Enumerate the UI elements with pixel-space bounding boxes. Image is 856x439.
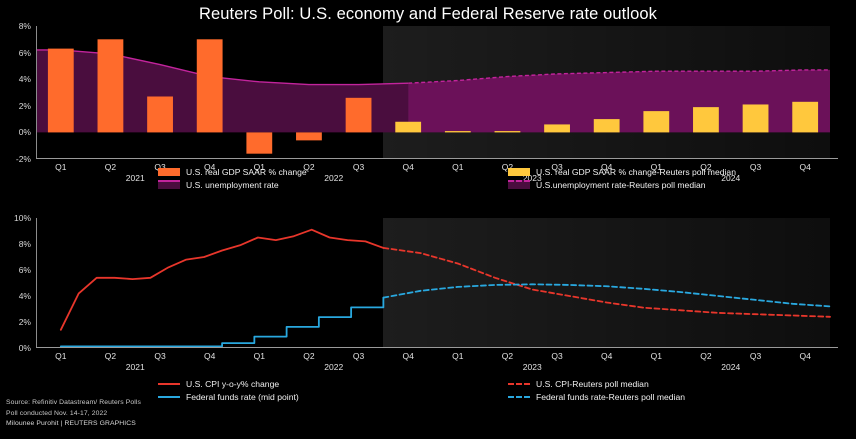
y-axis-tick-label: 0% — [19, 343, 31, 353]
legend-label: U.S. CPI y-o-y% change — [186, 379, 279, 389]
x-axis-year-label: 2021 — [126, 173, 145, 183]
top-legend-left: U.S. real GDP SAAR % changeU.S. unemploy… — [158, 166, 307, 192]
footer-credit: Milounee Purohit | REUTERS GRAPHICS — [6, 419, 141, 430]
legend-label: Federal funds rate (mid point) — [186, 392, 299, 402]
gdp-bar — [792, 102, 818, 133]
legend-entry: U.S. CPI-Reuters poll median — [508, 378, 685, 389]
y-axis-tick-label: 2% — [19, 101, 31, 111]
cpi-line — [61, 230, 384, 330]
cpi-forecast-line — [383, 248, 830, 317]
chart-page: Reuters Poll: U.S. economy and Federal R… — [0, 0, 856, 439]
legend-entry: U.S. real GDP SAAR % change — [158, 166, 307, 177]
legend-entry: U.S. CPI y-o-y% change — [158, 378, 299, 389]
gdp-bar — [395, 122, 421, 133]
gdp-bar — [296, 132, 322, 140]
x-axis-quarter-label: Q1 — [55, 162, 66, 172]
x-axis-year-label: 2023 — [523, 362, 542, 372]
x-axis-quarter-label: Q3 — [154, 351, 165, 361]
bottom-legend-right: U.S. CPI-Reuters poll medianFederal fund… — [508, 378, 685, 404]
x-axis-quarter-label: Q3 — [750, 351, 761, 361]
x-axis-quarter-label: Q2 — [303, 351, 314, 361]
gdp-bar — [495, 131, 521, 132]
legend-swatch — [158, 396, 180, 398]
x-axis-line — [36, 347, 838, 348]
y-axis-line — [36, 218, 37, 348]
gdp-bar — [197, 39, 223, 132]
legend-entry: Federal funds rate-Reuters poll median — [508, 391, 685, 402]
legend-swatch — [508, 180, 530, 189]
top-plot-svg — [36, 26, 830, 159]
legend-entry: U.S.unemployment rate-Reuters poll media… — [508, 179, 736, 190]
gdp-bar — [643, 111, 669, 132]
y-axis-tick-label: 4% — [19, 291, 31, 301]
legend-entry: Federal funds rate (mid point) — [158, 391, 299, 402]
legend-label: U.S. unemployment rate — [186, 180, 279, 190]
top-chart-panel: -2%0%2%4%6%8%Q1Q2Q3Q4Q1Q2Q3Q4Q1Q2Q3Q4Q1Q… — [0, 26, 856, 198]
x-axis-quarter-label: Q4 — [403, 162, 414, 172]
legend-swatch — [158, 168, 180, 176]
y-axis-tick-label: 6% — [19, 265, 31, 275]
gdp-bar — [147, 96, 173, 132]
x-axis-quarter-label: Q1 — [452, 351, 463, 361]
x-axis-quarter-label: Q2 — [105, 162, 116, 172]
legend-swatch — [158, 383, 180, 385]
footer-source: Source: Refinitiv Datastream/ Reuters Po… — [6, 398, 141, 409]
gdp-bar — [743, 104, 769, 132]
x-axis-year-label: 2022 — [324, 173, 343, 183]
legend-label: U.S. real GDP SAAR % change — [186, 167, 307, 177]
x-axis-year-label: 2024 — [721, 362, 740, 372]
bottom-legend-left: U.S. CPI y-o-y% changeFederal funds rate… — [158, 378, 299, 404]
legend-label: U.S.unemployment rate-Reuters poll media… — [536, 180, 706, 190]
legend-swatch — [508, 168, 530, 176]
x-axis-quarter-label: Q4 — [800, 162, 811, 172]
legend-entry: U.S. unemployment rate — [158, 179, 307, 190]
x-axis-quarter-label: Q3 — [353, 351, 364, 361]
y-axis-tick-label: 6% — [19, 48, 31, 58]
legend-label: U.S. real GDP SAAR % change-Reuters poll… — [536, 167, 736, 177]
footer: Source: Refinitiv Datastream/ Reuters Po… — [6, 398, 141, 430]
x-axis-quarter-label: Q3 — [551, 351, 562, 361]
gdp-bar — [246, 132, 272, 153]
legend-entry: U.S. real GDP SAAR % change-Reuters poll… — [508, 166, 736, 177]
x-axis-quarter-label: Q2 — [502, 351, 513, 361]
gdp-bar — [544, 124, 570, 132]
x-axis-quarter-label: Q2 — [700, 351, 711, 361]
x-axis-quarter-label: Q4 — [800, 351, 811, 361]
page-title: Reuters Poll: U.S. economy and Federal R… — [0, 5, 856, 24]
y-axis-tick-label: 2% — [19, 317, 31, 327]
gdp-bar — [98, 39, 124, 132]
bottom-plot-area: 0%2%4%6%8%10%Q1Q2Q3Q4Q1Q2Q3Q4Q1Q2Q3Q4Q1Q… — [36, 218, 830, 348]
legend-swatch — [508, 396, 530, 398]
x-axis-quarter-label: Q4 — [403, 351, 414, 361]
gdp-bar — [594, 119, 620, 132]
gdp-bar — [346, 98, 372, 133]
x-axis-quarter-label: Q1 — [55, 351, 66, 361]
top-legend-right: U.S. real GDP SAAR % change-Reuters poll… — [508, 166, 736, 192]
gdp-bar — [445, 131, 471, 132]
x-axis-quarter-label: Q1 — [254, 351, 265, 361]
x-axis-quarter-label: Q1 — [651, 351, 662, 361]
footer-poll-date: Poll conducted Nov. 14-17, 2022 — [6, 409, 141, 420]
legend-swatch — [508, 383, 530, 385]
x-axis-year-label: 2022 — [324, 362, 343, 372]
gdp-bar — [693, 107, 719, 132]
legend-label: U.S. CPI-Reuters poll median — [536, 379, 649, 389]
legend-swatch — [158, 180, 180, 189]
y-axis-tick-label: 8% — [19, 21, 31, 31]
fed-funds-step-line — [61, 298, 384, 347]
y-axis-tick-label: -2% — [16, 154, 31, 164]
y-axis-tick-label: 8% — [19, 239, 31, 249]
x-axis-quarter-label: Q1 — [452, 162, 463, 172]
bottom-chart-panel: 0%2%4%6%8%10%Q1Q2Q3Q4Q1Q2Q3Q4Q1Q2Q3Q4Q1Q… — [0, 218, 856, 368]
gdp-bar — [48, 49, 74, 133]
x-axis-quarter-label: Q2 — [105, 351, 116, 361]
y-axis-tick-label: 10% — [14, 213, 31, 223]
top-plot-area: -2%0%2%4%6%8%Q1Q2Q3Q4Q1Q2Q3Q4Q1Q2Q3Q4Q1Q… — [36, 26, 830, 159]
bottom-plot-svg — [36, 218, 830, 348]
x-axis-quarter-label: Q4 — [601, 351, 612, 361]
y-axis-tick-label: 4% — [19, 74, 31, 84]
y-axis-tick-label: 0% — [19, 127, 31, 137]
y-axis-line — [36, 26, 37, 159]
x-axis-line — [36, 158, 838, 159]
x-axis-quarter-label: Q3 — [750, 162, 761, 172]
x-axis-year-label: 2021 — [126, 362, 145, 372]
legend-label: Federal funds rate-Reuters poll median — [536, 392, 685, 402]
x-axis-quarter-label: Q3 — [353, 162, 364, 172]
x-axis-quarter-label: Q4 — [204, 351, 215, 361]
